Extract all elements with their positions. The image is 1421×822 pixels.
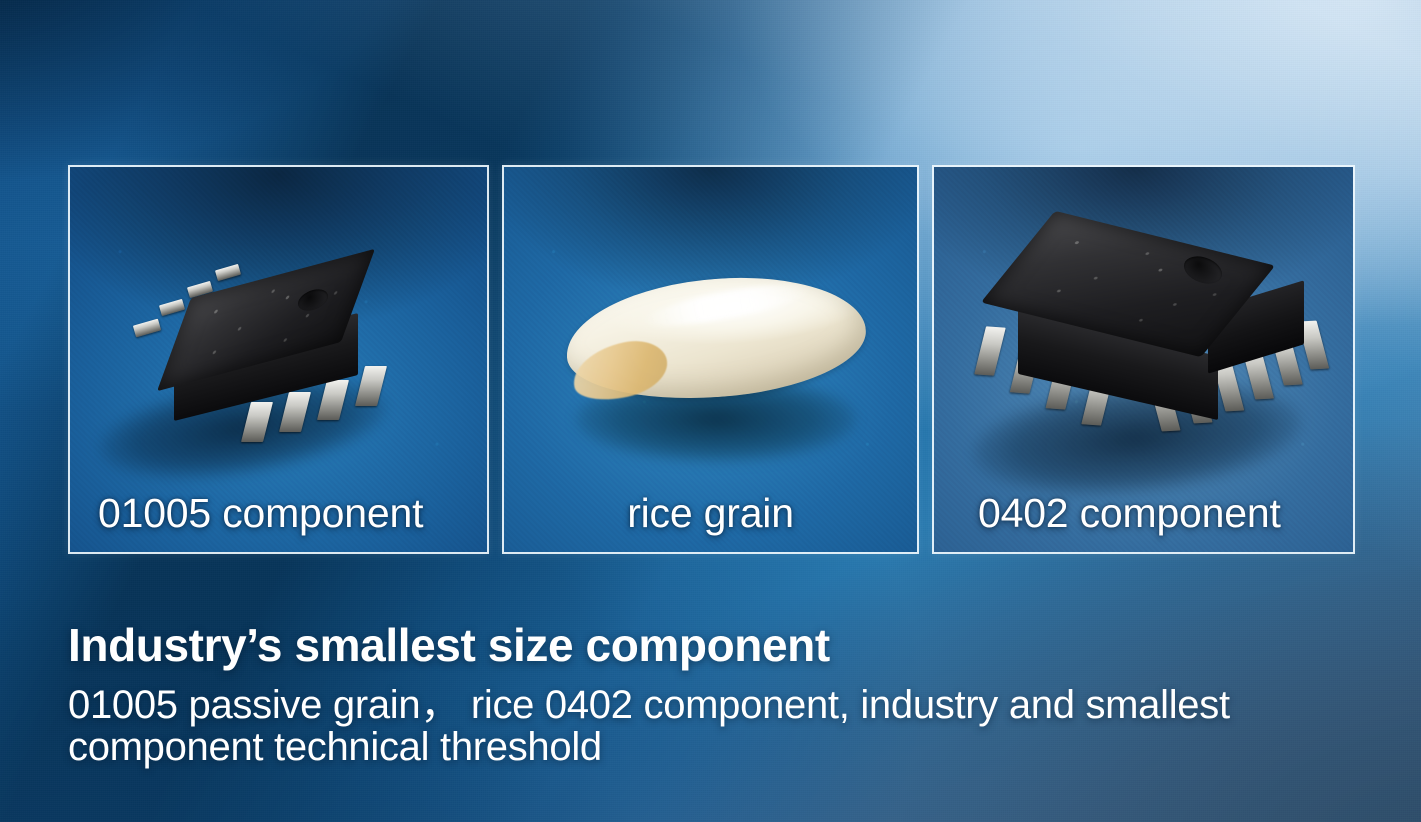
panel-rice-grain[interactable]: rice grain	[502, 165, 919, 554]
slide-canvas: 01005 component rice grain	[0, 0, 1421, 822]
rice-grain-illustration	[566, 279, 866, 419]
panel-01005-component[interactable]: 01005 component	[68, 165, 489, 554]
page-title: Industry’s smallest size component	[68, 622, 830, 668]
rice-grain-body	[562, 269, 870, 408]
chip-pin	[215, 264, 241, 281]
ssop-chip-illustration	[982, 215, 1312, 475]
rice-grain-highlight	[641, 276, 813, 334]
panel-caption: rice grain	[504, 493, 917, 534]
panel-caption: 0402 component	[978, 493, 1281, 534]
comparison-panel-group: 01005 component rice grain	[68, 165, 1355, 554]
rice-grain-germ	[567, 334, 672, 407]
chip-pin	[159, 299, 185, 316]
soic-8-chip-illustration	[142, 262, 412, 472]
page-subtitle: 01005 passive grain， rice 0402 component…	[68, 684, 1318, 768]
panel-0402-component[interactable]: 0402 component	[932, 165, 1355, 554]
panel-caption: 01005 component	[98, 493, 423, 534]
